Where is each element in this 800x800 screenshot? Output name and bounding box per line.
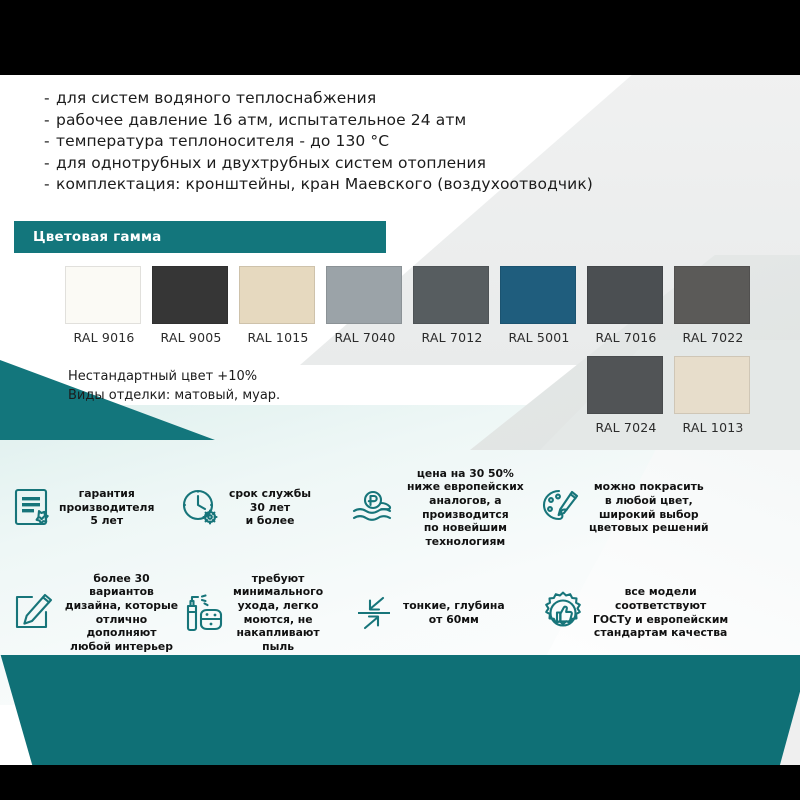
list-item: - комплектация: кронштейны, кран Маевско… xyxy=(44,174,624,196)
slide-page: - для систем водяного теплоснабжения - р… xyxy=(0,0,800,800)
swatch-ral-1015[interactable]: RAL 1015 xyxy=(239,266,317,345)
feature-item-spray-sponge: требуютминимальногоухода, легкомоются, н… xyxy=(180,560,355,665)
swatch-ral-1013[interactable]: RAL 1013 xyxy=(674,356,752,435)
feature-item-clock-gear: срок службы30 лети более xyxy=(180,455,355,560)
note-custom-color: Нестандартный цвет +10% xyxy=(68,367,280,386)
feature-text-line: дизайна, которые xyxy=(61,599,182,613)
swatch-label: RAL 7012 xyxy=(413,330,491,345)
swatch-chip xyxy=(674,266,750,324)
bullet-dash: - xyxy=(44,88,56,110)
palette-brush-icon xyxy=(540,487,582,529)
swatch-chip xyxy=(674,356,750,414)
feature-text-line: ухода, легко xyxy=(233,599,323,613)
note-finish-types: Виды отделки: матовый, муар. xyxy=(68,386,280,405)
feature-text-line: стандартам качества xyxy=(593,626,728,640)
swatch-chip xyxy=(239,266,315,324)
letterbox-top xyxy=(0,0,800,75)
list-item: - рабочее давление 16 атм, испытательное… xyxy=(44,110,624,132)
hand-ruble-icon xyxy=(352,489,400,527)
feature-text-line: ГОСТу и европейским xyxy=(593,613,728,627)
swatch-ral-5001[interactable]: RAL 5001 xyxy=(500,266,578,345)
decorative-teal-band xyxy=(0,655,800,765)
feature-text: требуютминимальногоухода, легкомоются, н… xyxy=(233,572,323,654)
feature-text-line: по новейшим xyxy=(407,521,524,535)
swatch-label: RAL 1015 xyxy=(239,330,317,345)
swatch-chip xyxy=(65,266,141,324)
list-item: - для однотрубных и двухтрубных систем о… xyxy=(44,153,624,175)
list-item: - температура теплоносителя - до 130 °C xyxy=(44,131,624,153)
feature-item-thumbs-up-badge: все моделисоответствуютГОСТу и европейск… xyxy=(540,560,790,665)
swatch-label: RAL 9005 xyxy=(152,330,230,345)
swatch-label: RAL 7016 xyxy=(587,330,665,345)
feature-item-compress-arrows: тонкие, глубинаот 60мм xyxy=(352,560,542,665)
list-item: - для систем водяного теплоснабжения xyxy=(44,88,624,110)
swatch-chip xyxy=(152,266,228,324)
decorative-bottom-grey xyxy=(640,655,800,765)
bullet-dash: - xyxy=(44,110,56,132)
feature-text-line: тонкие, глубина xyxy=(403,599,505,613)
swatch-ral-7040[interactable]: RAL 7040 xyxy=(326,266,404,345)
bullet-dash: - xyxy=(44,174,56,196)
swatch-chip xyxy=(500,266,576,324)
feature-text-line: требуют xyxy=(233,572,323,586)
bullet-dash: - xyxy=(44,153,56,175)
feature-item-certificate: гарантияпроизводителя5 лет xyxy=(12,455,182,560)
feature-text: все моделисоответствуютГОСТу и европейск… xyxy=(593,585,728,639)
swatch-ral-9016[interactable]: RAL 9016 xyxy=(65,266,143,345)
pencil-sheet-icon xyxy=(12,592,54,634)
feature-text-line: можно покрасить xyxy=(589,480,709,494)
swatch-chip xyxy=(587,356,663,414)
feature-text-line: накапливают xyxy=(233,626,323,640)
feature-text-line: производителя xyxy=(59,501,154,515)
feature-text-line: гарантия xyxy=(59,487,154,501)
feature-text-line: более 30 xyxy=(61,572,182,586)
swatch-chip xyxy=(326,266,402,324)
swatch-ral-7012[interactable]: RAL 7012 xyxy=(413,266,491,345)
feature-text-line: цветовых решений xyxy=(589,521,709,535)
swatch-label: RAL 5001 xyxy=(500,330,578,345)
clock-gear-icon xyxy=(180,487,222,529)
feature-text-line: отлично дополняют xyxy=(61,613,182,640)
feature-text-line: минимального xyxy=(233,585,323,599)
swatch-label: RAL 7040 xyxy=(326,330,404,345)
feature-text-line: и более xyxy=(229,514,311,528)
feature-text-line: от 60мм xyxy=(403,613,505,627)
bullet-text: для систем водяного теплоснабжения xyxy=(56,88,376,110)
feature-text-line: соответствуют xyxy=(593,599,728,613)
certificate-icon xyxy=(12,487,52,529)
swatch-label: RAL 9016 xyxy=(65,330,143,345)
feature-text: гарантияпроизводителя5 лет xyxy=(59,487,154,528)
feature-item-hand-ruble: цена на 30 50%ниже европейскиханалогов, … xyxy=(352,455,542,560)
feature-text-line: срок службы xyxy=(229,487,311,501)
feature-text: срок службы30 лети более xyxy=(229,487,311,528)
compress-arrows-icon xyxy=(352,592,396,634)
bullet-text: рабочее давление 16 атм, испытательное 2… xyxy=(56,110,466,132)
feature-text-line: производится xyxy=(407,508,524,522)
swatch-chip xyxy=(587,266,663,324)
color-gamma-title: Цветовая гамма xyxy=(33,229,162,245)
feature-text: можно покраситьв любой цвет,широкий выбо… xyxy=(589,480,709,534)
feature-text-line: моются, не xyxy=(233,613,323,627)
spray-sponge-icon xyxy=(180,592,226,634)
feature-text-line: цена на 30 50% xyxy=(407,467,524,481)
feature-text-line: любой интерьер xyxy=(61,640,182,654)
feature-text-line: вариантов xyxy=(61,585,182,599)
feature-text-line: все модели xyxy=(593,585,728,599)
feature-text: тонкие, глубинаот 60мм xyxy=(403,599,505,626)
feature-text: цена на 30 50%ниже европейскиханалогов, … xyxy=(407,467,524,549)
swatch-label: RAL 7024 xyxy=(587,420,665,435)
feature-text: более 30вариантовдизайна, которыеотлично… xyxy=(61,572,182,654)
color-gamma-banner: Цветовая гамма xyxy=(14,221,386,253)
slide-canvas: - для систем водяного теплоснабжения - р… xyxy=(0,75,800,765)
feature-text-line: в любой цвет, xyxy=(589,494,709,508)
letterbox-bottom xyxy=(0,765,800,800)
feature-text-line: технологиям xyxy=(407,535,524,549)
swatch-label: RAL 1013 xyxy=(674,420,752,435)
feature-text-line: 30 лет xyxy=(229,501,311,515)
bullet-text: для однотрубных и двухтрубных систем ото… xyxy=(56,153,486,175)
feature-text-line: широкий выбор xyxy=(589,508,709,522)
swatch-chip xyxy=(413,266,489,324)
swatch-label: RAL 7022 xyxy=(674,330,752,345)
bullet-dash: - xyxy=(44,131,56,153)
feature-text-line: пыль xyxy=(233,640,323,654)
feature-item-palette-brush: можно покраситьв любой цвет,широкий выбо… xyxy=(540,455,790,560)
bullet-text: комплектация: кронштейны, кран Маевского… xyxy=(56,174,593,196)
swatch-ral-7016[interactable]: RAL 7016 xyxy=(587,266,665,345)
bullet-text: температура теплоносителя - до 130 °C xyxy=(56,131,389,153)
feature-text-line: ниже европейских xyxy=(407,480,524,494)
feature-item-pencil-sheet: более 30вариантовдизайна, которыеотлично… xyxy=(12,560,182,665)
finish-notes: Нестандартный цвет +10% Виды отделки: ма… xyxy=(68,367,280,405)
feature-text-line: аналогов, а xyxy=(407,494,524,508)
feature-text-line: 5 лет xyxy=(59,514,154,528)
swatch-ral-7022[interactable]: RAL 7022 xyxy=(674,266,752,345)
thumbs-up-badge-icon xyxy=(540,590,586,636)
swatch-ral-7024[interactable]: RAL 7024 xyxy=(587,356,665,435)
decorative-grey-diagonal-3 xyxy=(540,340,800,450)
spec-bullet-list: - для систем водяного теплоснабжения - р… xyxy=(44,88,624,196)
swatch-ral-9005[interactable]: RAL 9005 xyxy=(152,266,230,345)
